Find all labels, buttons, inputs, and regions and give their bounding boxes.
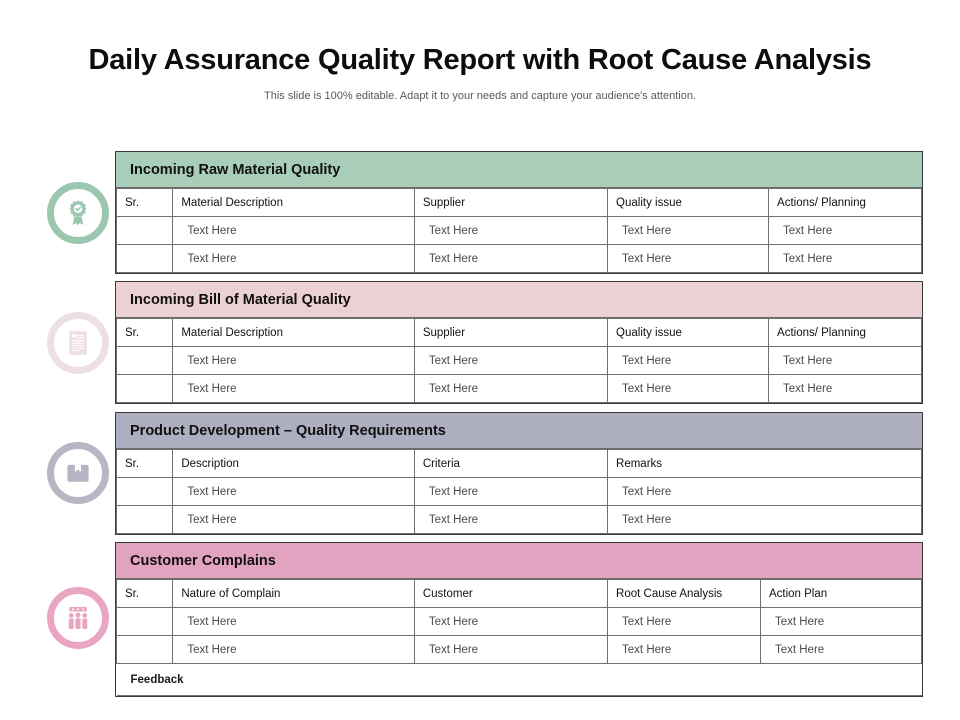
cell-actions-planning[interactable]: Text Here bbox=[769, 245, 922, 273]
cell-supplier[interactable]: Text Here bbox=[414, 217, 607, 245]
column-header: Actions/ Planning bbox=[769, 319, 922, 347]
cell-criteria[interactable]: Text Here bbox=[414, 506, 607, 534]
table-row[interactable]: Text Here Text Here Text Here Text Here bbox=[117, 375, 922, 403]
customer-group-icon bbox=[47, 587, 109, 649]
cell-material-description[interactable]: Text Here bbox=[173, 375, 415, 403]
cell-customer[interactable]: Text Here bbox=[414, 608, 607, 636]
section-customer-complains: Customer Complains Sr. Nature of Complai… bbox=[115, 542, 923, 697]
table-row[interactable]: Text Here Text Here Text Here Text Here bbox=[117, 636, 922, 664]
table-header-row: Sr. Nature of Complain Customer Root Cau… bbox=[117, 580, 922, 608]
cell-material-description[interactable]: Text Here bbox=[173, 245, 415, 273]
column-header: Actions/ Planning bbox=[769, 189, 922, 217]
cell-actions-planning[interactable]: Text Here bbox=[769, 347, 922, 375]
quality-badge-icon bbox=[47, 182, 109, 244]
cell-sr[interactable] bbox=[117, 375, 173, 403]
section-header-title: Product Development – Quality Requiremen… bbox=[116, 413, 922, 449]
cell-sr[interactable] bbox=[117, 608, 173, 636]
cell-supplier[interactable]: Text Here bbox=[414, 347, 607, 375]
table-row[interactable]: Text Here Text Here Text Here Text Here bbox=[117, 217, 922, 245]
cell-quality-issue[interactable]: Text Here bbox=[608, 217, 769, 245]
cell-quality-issue[interactable]: Text Here bbox=[608, 375, 769, 403]
package-box-glyph bbox=[63, 458, 93, 488]
section-table: Sr. Material Description Supplier Qualit… bbox=[116, 188, 922, 273]
people-group-glyph bbox=[63, 603, 93, 633]
cell-remarks[interactable]: Text Here bbox=[608, 506, 922, 534]
cell-remarks[interactable]: Text Here bbox=[608, 478, 922, 506]
column-header: Sr. bbox=[117, 319, 173, 347]
cell-root-cause-analysis[interactable]: Text Here bbox=[608, 608, 761, 636]
column-header: Root Cause Analysis bbox=[608, 580, 761, 608]
cell-sr[interactable] bbox=[117, 636, 173, 664]
page-subtitle: This slide is 100% editable. Adapt it to… bbox=[0, 90, 960, 102]
column-header: Criteria bbox=[414, 450, 607, 478]
cell-actions-planning[interactable]: Text Here bbox=[769, 217, 922, 245]
section-table: Sr. Nature of Complain Customer Root Cau… bbox=[116, 579, 922, 696]
section-header-title: Incoming Raw Material Quality bbox=[116, 152, 922, 188]
column-header: Action Plan bbox=[760, 580, 921, 608]
column-header: Description bbox=[173, 450, 415, 478]
table-row[interactable]: Text Here Text Here Text Here bbox=[117, 506, 922, 534]
product-box-icon bbox=[47, 442, 109, 504]
section-header-title: Incoming Bill of Material Quality bbox=[116, 282, 922, 318]
table-header-row: Sr. Material Description Supplier Qualit… bbox=[117, 189, 922, 217]
section-header-title: Customer Complains bbox=[116, 543, 922, 579]
cell-quality-issue[interactable]: Text Here bbox=[608, 245, 769, 273]
cell-nature-of-complain[interactable]: Text Here bbox=[173, 608, 415, 636]
column-header: Supplier bbox=[414, 189, 607, 217]
column-header: Sr. bbox=[117, 189, 173, 217]
cell-sr[interactable] bbox=[117, 506, 173, 534]
cell-sr[interactable] bbox=[117, 245, 173, 273]
cell-nature-of-complain[interactable]: Text Here bbox=[173, 636, 415, 664]
award-ribbon-check-glyph bbox=[63, 198, 93, 228]
section-incoming-raw-material-quality: Incoming Raw Material Quality Sr. Materi… bbox=[115, 151, 923, 274]
cell-sr[interactable] bbox=[117, 217, 173, 245]
column-header: Customer bbox=[414, 580, 607, 608]
cell-material-description[interactable]: Text Here bbox=[173, 217, 415, 245]
table-row[interactable]: Text Here Text Here Text Here Text Here bbox=[117, 245, 922, 273]
cell-material-description[interactable]: Text Here bbox=[173, 347, 415, 375]
cell-customer[interactable]: Text Here bbox=[414, 636, 607, 664]
feedback-label: Feedback bbox=[117, 664, 922, 696]
column-header: Remarks bbox=[608, 450, 922, 478]
cell-description[interactable]: Text Here bbox=[173, 506, 415, 534]
cell-quality-issue[interactable]: Text Here bbox=[608, 347, 769, 375]
cell-description[interactable]: Text Here bbox=[173, 478, 415, 506]
table-header-row: Sr. Material Description Supplier Qualit… bbox=[117, 319, 922, 347]
cell-action-plan[interactable]: Text Here bbox=[760, 608, 921, 636]
section-table: Sr. Material Description Supplier Qualit… bbox=[116, 318, 922, 403]
column-header: Sr. bbox=[117, 580, 173, 608]
column-header: Nature of Complain bbox=[173, 580, 415, 608]
page-title: Daily Assurance Quality Report with Root… bbox=[0, 44, 960, 77]
cell-action-plan[interactable]: Text Here bbox=[760, 636, 921, 664]
bill-of-material-icon bbox=[47, 312, 109, 374]
cell-root-cause-analysis[interactable]: Text Here bbox=[608, 636, 761, 664]
column-header: Material Description bbox=[173, 189, 415, 217]
section-incoming-bill-of-material-quality: Incoming Bill of Material Quality Sr. Ma… bbox=[115, 281, 923, 404]
table-row[interactable]: Text Here Text Here Text Here Text Here bbox=[117, 608, 922, 636]
table-row[interactable]: Text Here Text Here Text Here Text Here bbox=[117, 347, 922, 375]
table-header-row: Sr. Description Criteria Remarks bbox=[117, 450, 922, 478]
cell-supplier[interactable]: Text Here bbox=[414, 245, 607, 273]
column-header: Quality issue bbox=[608, 189, 769, 217]
document-list-glyph bbox=[63, 328, 93, 358]
column-header: Material Description bbox=[173, 319, 415, 347]
column-header: Sr. bbox=[117, 450, 173, 478]
slide-canvas: Daily Assurance Quality Report with Root… bbox=[0, 0, 960, 720]
section-table: Sr. Description Criteria Remarks Text He… bbox=[116, 449, 922, 534]
column-header: Quality issue bbox=[608, 319, 769, 347]
feedback-row: Feedback bbox=[117, 664, 922, 696]
cell-actions-planning[interactable]: Text Here bbox=[769, 375, 922, 403]
column-header: Supplier bbox=[414, 319, 607, 347]
cell-criteria[interactable]: Text Here bbox=[414, 478, 607, 506]
cell-supplier[interactable]: Text Here bbox=[414, 375, 607, 403]
table-row[interactable]: Text Here Text Here Text Here bbox=[117, 478, 922, 506]
cell-sr[interactable] bbox=[117, 347, 173, 375]
cell-sr[interactable] bbox=[117, 478, 173, 506]
section-product-development-quality-requirements: Product Development – Quality Requiremen… bbox=[115, 412, 923, 535]
